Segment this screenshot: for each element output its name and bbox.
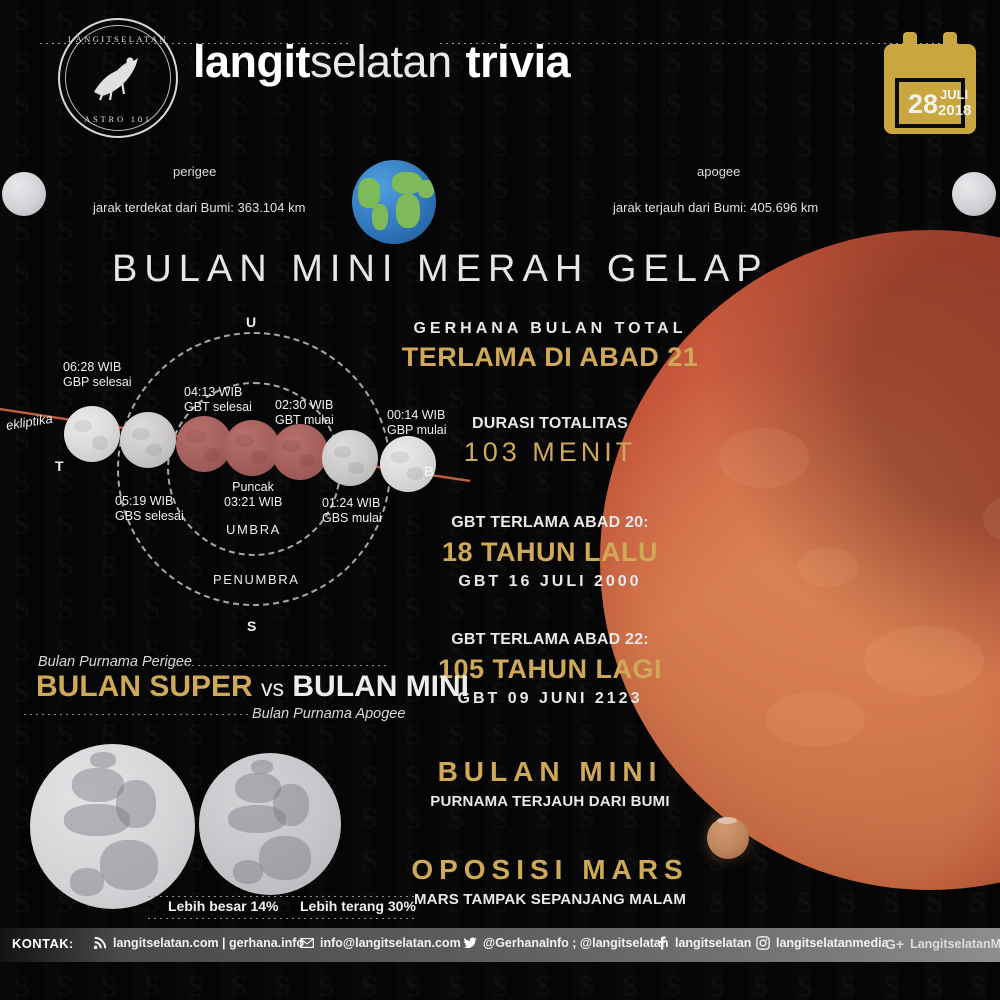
footer-instagram-text: langitselatanmedia (776, 936, 889, 950)
footer-item-email[interactable]: info@langitselatan.com (300, 936, 461, 950)
orbit-line-right (440, 43, 960, 44)
phase-label-0: 06:28 WIB GBP selesai (63, 360, 132, 390)
googleplus-icon: G+ (885, 936, 904, 952)
moon-phase-gbs-mulai (322, 430, 378, 486)
supermoon-comparison: Bulan Purnama Perigee BULAN SUPER vs BUL… (0, 650, 420, 940)
crater-overlay (272, 424, 328, 480)
mars-title: OPOSISI MARS (400, 854, 700, 886)
century22-label: GBT TERLAMA ABAD 22: (400, 631, 700, 649)
mini-moon-sub: PURNAMA TERJAUH DARI BUMI (400, 793, 700, 810)
phase-event-3: GBT mulai (275, 413, 334, 428)
infographic-root: SSSSSSSSSSSSSSSSSSSSSSSSSSSSSSSSSSSSSSSS… (0, 0, 1000, 1000)
calendar-inner: 28 JULI 2018 (899, 82, 961, 124)
century20-date: GBT 16 JULI 2000 (400, 573, 700, 591)
horse-rider-icon (86, 52, 150, 104)
apogee-label: apogee (697, 164, 740, 179)
comparison-top-dots (168, 665, 390, 666)
phase-time-3: 02:30 WIB (275, 398, 334, 413)
perigee-label: perigee (173, 164, 216, 179)
crater-overlay (64, 406, 120, 462)
comparison-bottom-dots (24, 714, 248, 715)
axis-label-s: S (247, 618, 256, 634)
mini-moon-title: BULAN MINI (400, 756, 700, 788)
comparison-title-white: BULAN MINI (292, 670, 469, 703)
footer-item-website[interactable]: langitselatan.com | gerhana.info (93, 936, 304, 950)
peak-time: 03:21 WIB (224, 495, 282, 510)
apogee-distance: jarak terjauh dari Bumi: 405.696 km (613, 200, 818, 215)
duration-label: DURASI TOTALITAS (400, 415, 700, 433)
axis-label-u: U (246, 314, 256, 330)
crater-overlay (120, 412, 176, 468)
perigee-distance: jarak terdekat dari Bumi: 363.104 km (93, 200, 305, 215)
moon-phase-gbt-mulai (272, 424, 328, 480)
penumbra-label: PENUMBRA (213, 572, 299, 587)
phase-event-1: GBS selesai (115, 509, 184, 524)
logo-bottom-text: ASTRO 101 (60, 114, 176, 124)
comparison-title: BULAN SUPER vs BULAN MINI (36, 670, 469, 704)
mars-polar-cap (717, 817, 737, 824)
phase-event-4: GBS mulai (322, 511, 382, 526)
envelope-icon (300, 936, 314, 950)
phase-label-3: 02:30 WIB GBT mulai (275, 398, 334, 428)
umbra-label: UMBRA (226, 522, 281, 537)
mars-image (707, 817, 749, 859)
footer-facebook-text: langitselatan (675, 936, 751, 950)
footer-email-text: info@langitselatan.com (320, 936, 461, 950)
footer-item-googleplus[interactable]: G+ LangitselatanMedia (885, 936, 1000, 952)
eclipse-heading-gold: TERLAMA DI ABAD 21 (400, 342, 700, 373)
phase-time-4: 01:24 WIB (322, 496, 382, 511)
earth-icon (352, 160, 436, 244)
calendar-screen: 28 JULI 2018 (895, 78, 965, 128)
footer-website-text: langitselatan.com | gerhana.info (113, 936, 304, 950)
comparison-title-gold: BULAN SUPER (36, 670, 253, 703)
phase-time-1: 05:19 WIB (115, 494, 184, 509)
phase-label-2: 04:13 WIB GBT selesai (184, 385, 252, 415)
calendar-icon: 28 JULI 2018 (884, 32, 976, 134)
comparison-caption-dots-top (148, 896, 418, 897)
phase-label-1: 05:19 WIB GBS selesai (115, 494, 184, 524)
calendar-month: JULI (940, 88, 968, 102)
supermoon-disc (30, 744, 195, 909)
phase-time-2: 04:13 WIB (184, 385, 252, 400)
rss-icon (93, 936, 107, 950)
calendar-day: 28 (908, 91, 938, 118)
header: LANGITSELATAN ASTRO 101 langitselatantri… (0, 0, 1000, 150)
orbit-line-left (40, 43, 350, 44)
instagram-icon (756, 936, 770, 950)
footer-item-instagram[interactable]: langitselatanmedia (756, 936, 889, 950)
peak-text: Puncak (224, 480, 282, 495)
comparison-top-note: Bulan Purnama Perigee (38, 654, 192, 670)
eclipse-heading-top: GERHANA BULAN TOTAL (400, 320, 700, 338)
perigee-moon-icon (2, 172, 46, 216)
right-info-column: GERHANA BULAN TOTAL TERLAMA DI ABAD 21 D… (400, 310, 700, 908)
langitselatan-logo: LANGITSELATAN ASTRO 101 (58, 18, 178, 138)
peak-label: Puncak 03:21 WIB (224, 480, 282, 510)
twitter-icon (463, 936, 477, 950)
calendar-body: 28 JULI 2018 (884, 44, 976, 134)
footer-googleplus-text: LangitselatanMedia (910, 937, 1000, 951)
axis-label-t: T (55, 458, 64, 474)
contact-footer: KONTAK: langitselatan.com | gerhana.info… (0, 928, 1000, 962)
comparison-caption-brightness: Lebih terang 30% (300, 898, 416, 914)
kontak-label: KONTAK: (12, 936, 74, 951)
footer-item-facebook[interactable]: langitselatan (655, 936, 751, 950)
century20-label: GBT TERLAMA ABAD 20: (400, 514, 700, 532)
phase-time-0: 06:28 WIB (63, 360, 132, 375)
duration-value: 103 MENIT (400, 437, 700, 468)
phase-event-0: GBP selesai (63, 375, 132, 390)
crater-overlay (322, 430, 378, 486)
footer-item-twitter[interactable]: @GerhanaInfo ; @langitselatan (463, 936, 669, 950)
mars-sub: MARS TAMPAK SEPANJANG MALAM (400, 891, 700, 908)
minimoon-disc (199, 753, 341, 895)
comparison-caption-size: Lebih besar 14% (168, 898, 279, 914)
century20-value: 18 TAHUN LALU (400, 537, 700, 568)
comparison-bottom-note: Bulan Purnama Apogee (252, 706, 405, 722)
page-title: BULAN MINI MERAH GELAP (112, 248, 769, 291)
moon-phase-gbp-selesai (64, 406, 120, 462)
phase-event-2: GBT selesai (184, 400, 252, 415)
comparison-caption-dots-bottom (148, 918, 418, 919)
facebook-icon (655, 936, 669, 950)
footer-twitter-text: @GerhanaInfo ; @langitselatan (483, 936, 669, 950)
phase-label-4: 01:24 WIB GBS mulai (322, 496, 382, 526)
comparison-title-vs: vs (261, 675, 284, 701)
apogee-moon-icon (952, 172, 996, 216)
moon-phase-gbs-selesai (120, 412, 176, 468)
calendar-year: 2018 (938, 103, 971, 118)
